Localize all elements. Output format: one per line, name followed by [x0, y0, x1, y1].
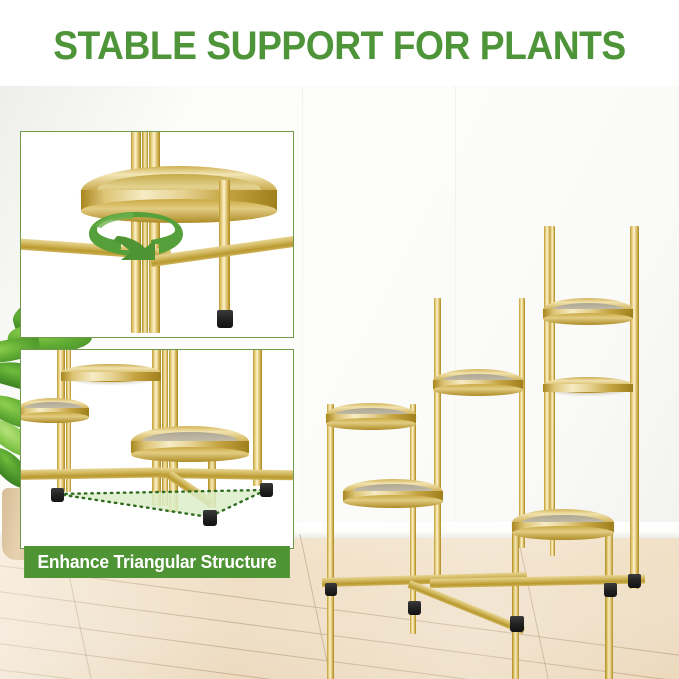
inset-foot-cap: [217, 310, 233, 328]
stand-post-right-rear: [630, 226, 639, 589]
inset2-foot-cap: [203, 510, 217, 526]
inset2-foot-cap: [51, 488, 64, 502]
page-title: STABLE SUPPORT FOR PLANTS: [24, 24, 655, 69]
inset-rotation-detail: [20, 131, 294, 338]
inset2-foot-cap: [260, 483, 273, 497]
shelf-tier-6: [512, 509, 614, 537]
stand-post-mid-left: [434, 298, 441, 588]
caption-triangular-structure: Enhance Triangular Structure: [24, 546, 290, 578]
shelf-tier-2: [433, 369, 523, 393]
stand-post-front-left: [512, 524, 519, 679]
inset-triangular-structure: [20, 349, 294, 549]
shelf-tier-4: [326, 403, 416, 427]
dotted-triangle-icon: [21, 350, 294, 549]
wall-seam: [302, 86, 303, 538]
foot-cap: [408, 601, 421, 615]
foot-cap: [325, 583, 337, 596]
shelf-tier-5: [343, 479, 443, 505]
stand-post-low-left: [327, 404, 334, 679]
foot-cap: [604, 583, 617, 597]
stand-post-front-right: [605, 524, 613, 679]
rotation-arrow-icon: [81, 210, 191, 262]
shelf-tier-3: [543, 377, 633, 393]
foot-cap: [628, 574, 641, 588]
product-marketing-image: STABLE SUPPORT FOR PLANTS: [0, 0, 679, 679]
stand-post-low-right: [410, 404, 416, 634]
wall-seam: [455, 86, 456, 538]
foot-cap: [510, 616, 524, 632]
shelf-tier-1: [543, 298, 633, 322]
